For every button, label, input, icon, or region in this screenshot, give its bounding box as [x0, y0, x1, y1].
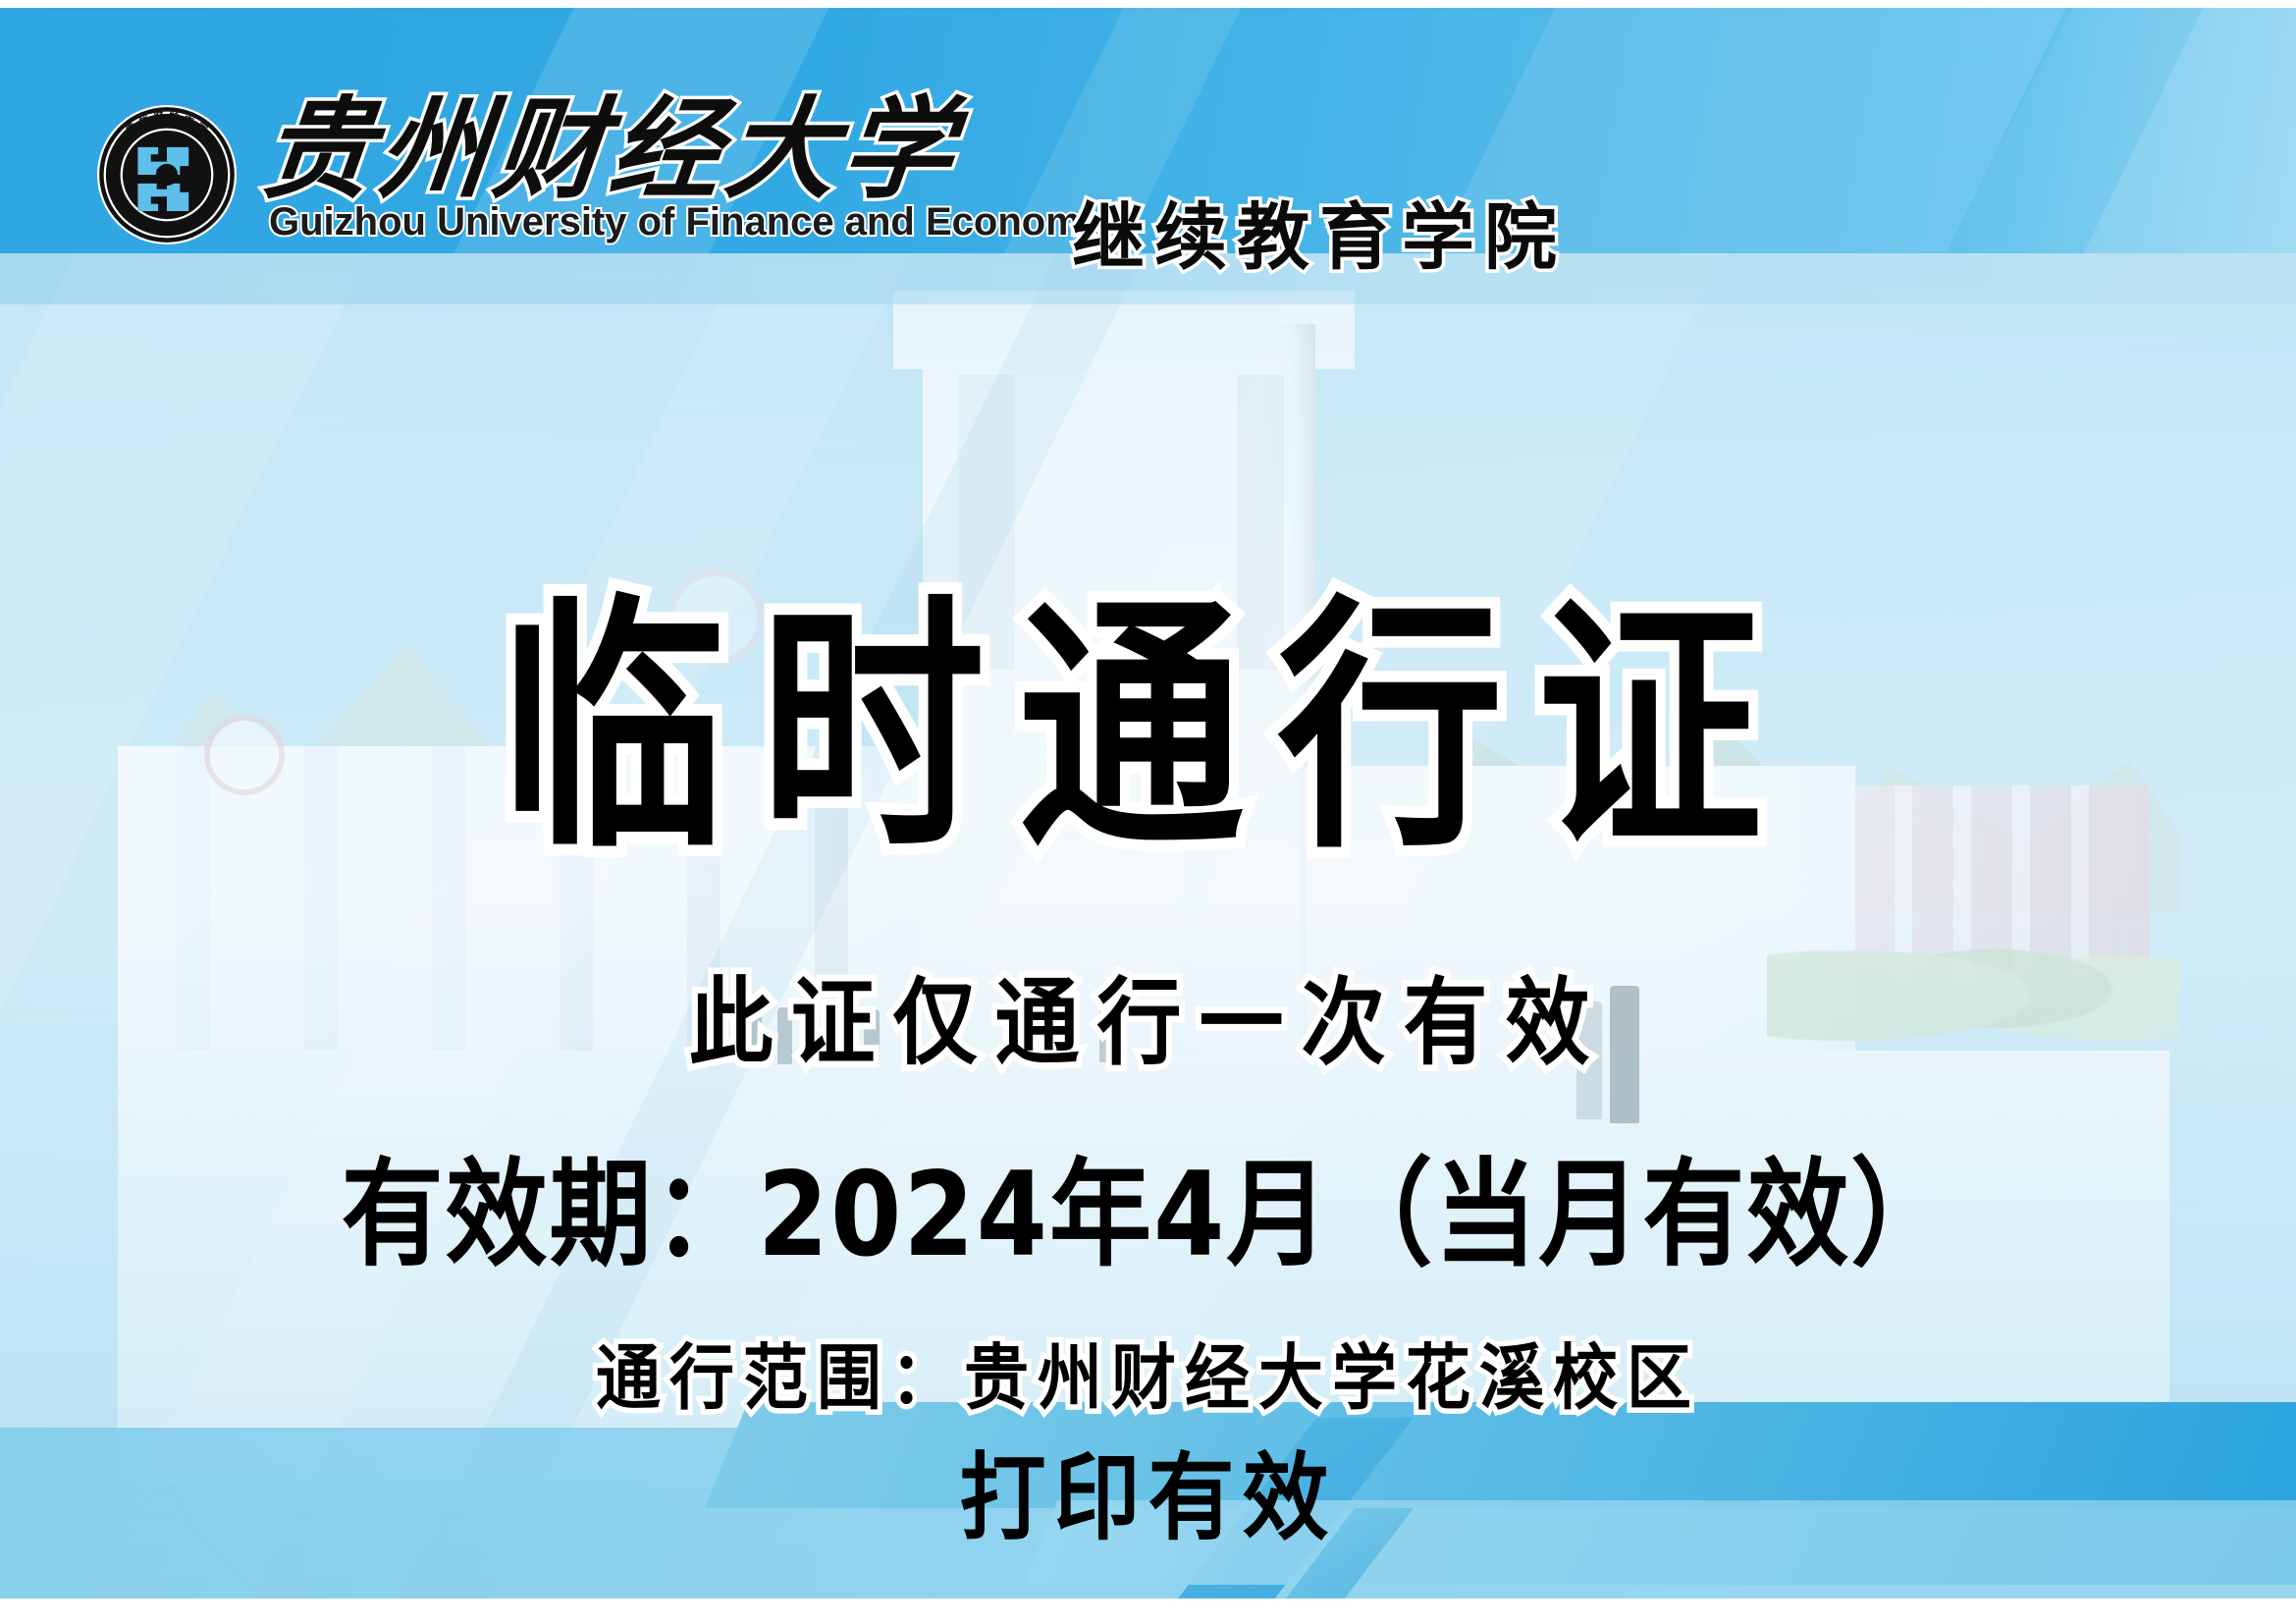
print-validity-note: 打印有效: [0, 1422, 2296, 1559]
single-use-note: 此证仅通行一次有效: [0, 946, 2296, 1083]
validity-period: 有效期：2024年4月（当月有效）: [0, 1119, 2296, 1288]
seal-founded-year: 1958: [153, 222, 182, 232]
top-page-margin: [0, 0, 2296, 8]
access-scope: 通行范围：贵州财经大学花溪校区: [0, 1321, 2296, 1425]
page-title: 临时通行证: [0, 597, 2296, 863]
temporary-pass-card: 贵 州 财 经 大 学 GUIZHOU UNIVERSITY OF FINANC…: [0, 0, 2296, 1624]
college-name: 继续教育学院: [1072, 179, 1567, 284]
institution-logotype: 贵州财经大学 Guizhou University of Finance and…: [263, 94, 1135, 244]
institution-logo-row: 贵 州 财 经 大 学 GUIZHOU UNIVERSITY OF FINANC…: [94, 94, 1135, 247]
university-seal-icon: 贵 州 财 经 大 学 GUIZHOU UNIVERSITY OF FINANC…: [94, 102, 240, 247]
bottom-page-margin: [0, 1598, 2296, 1624]
university-name-cn: 贵州财经大学: [257, 94, 1141, 206]
